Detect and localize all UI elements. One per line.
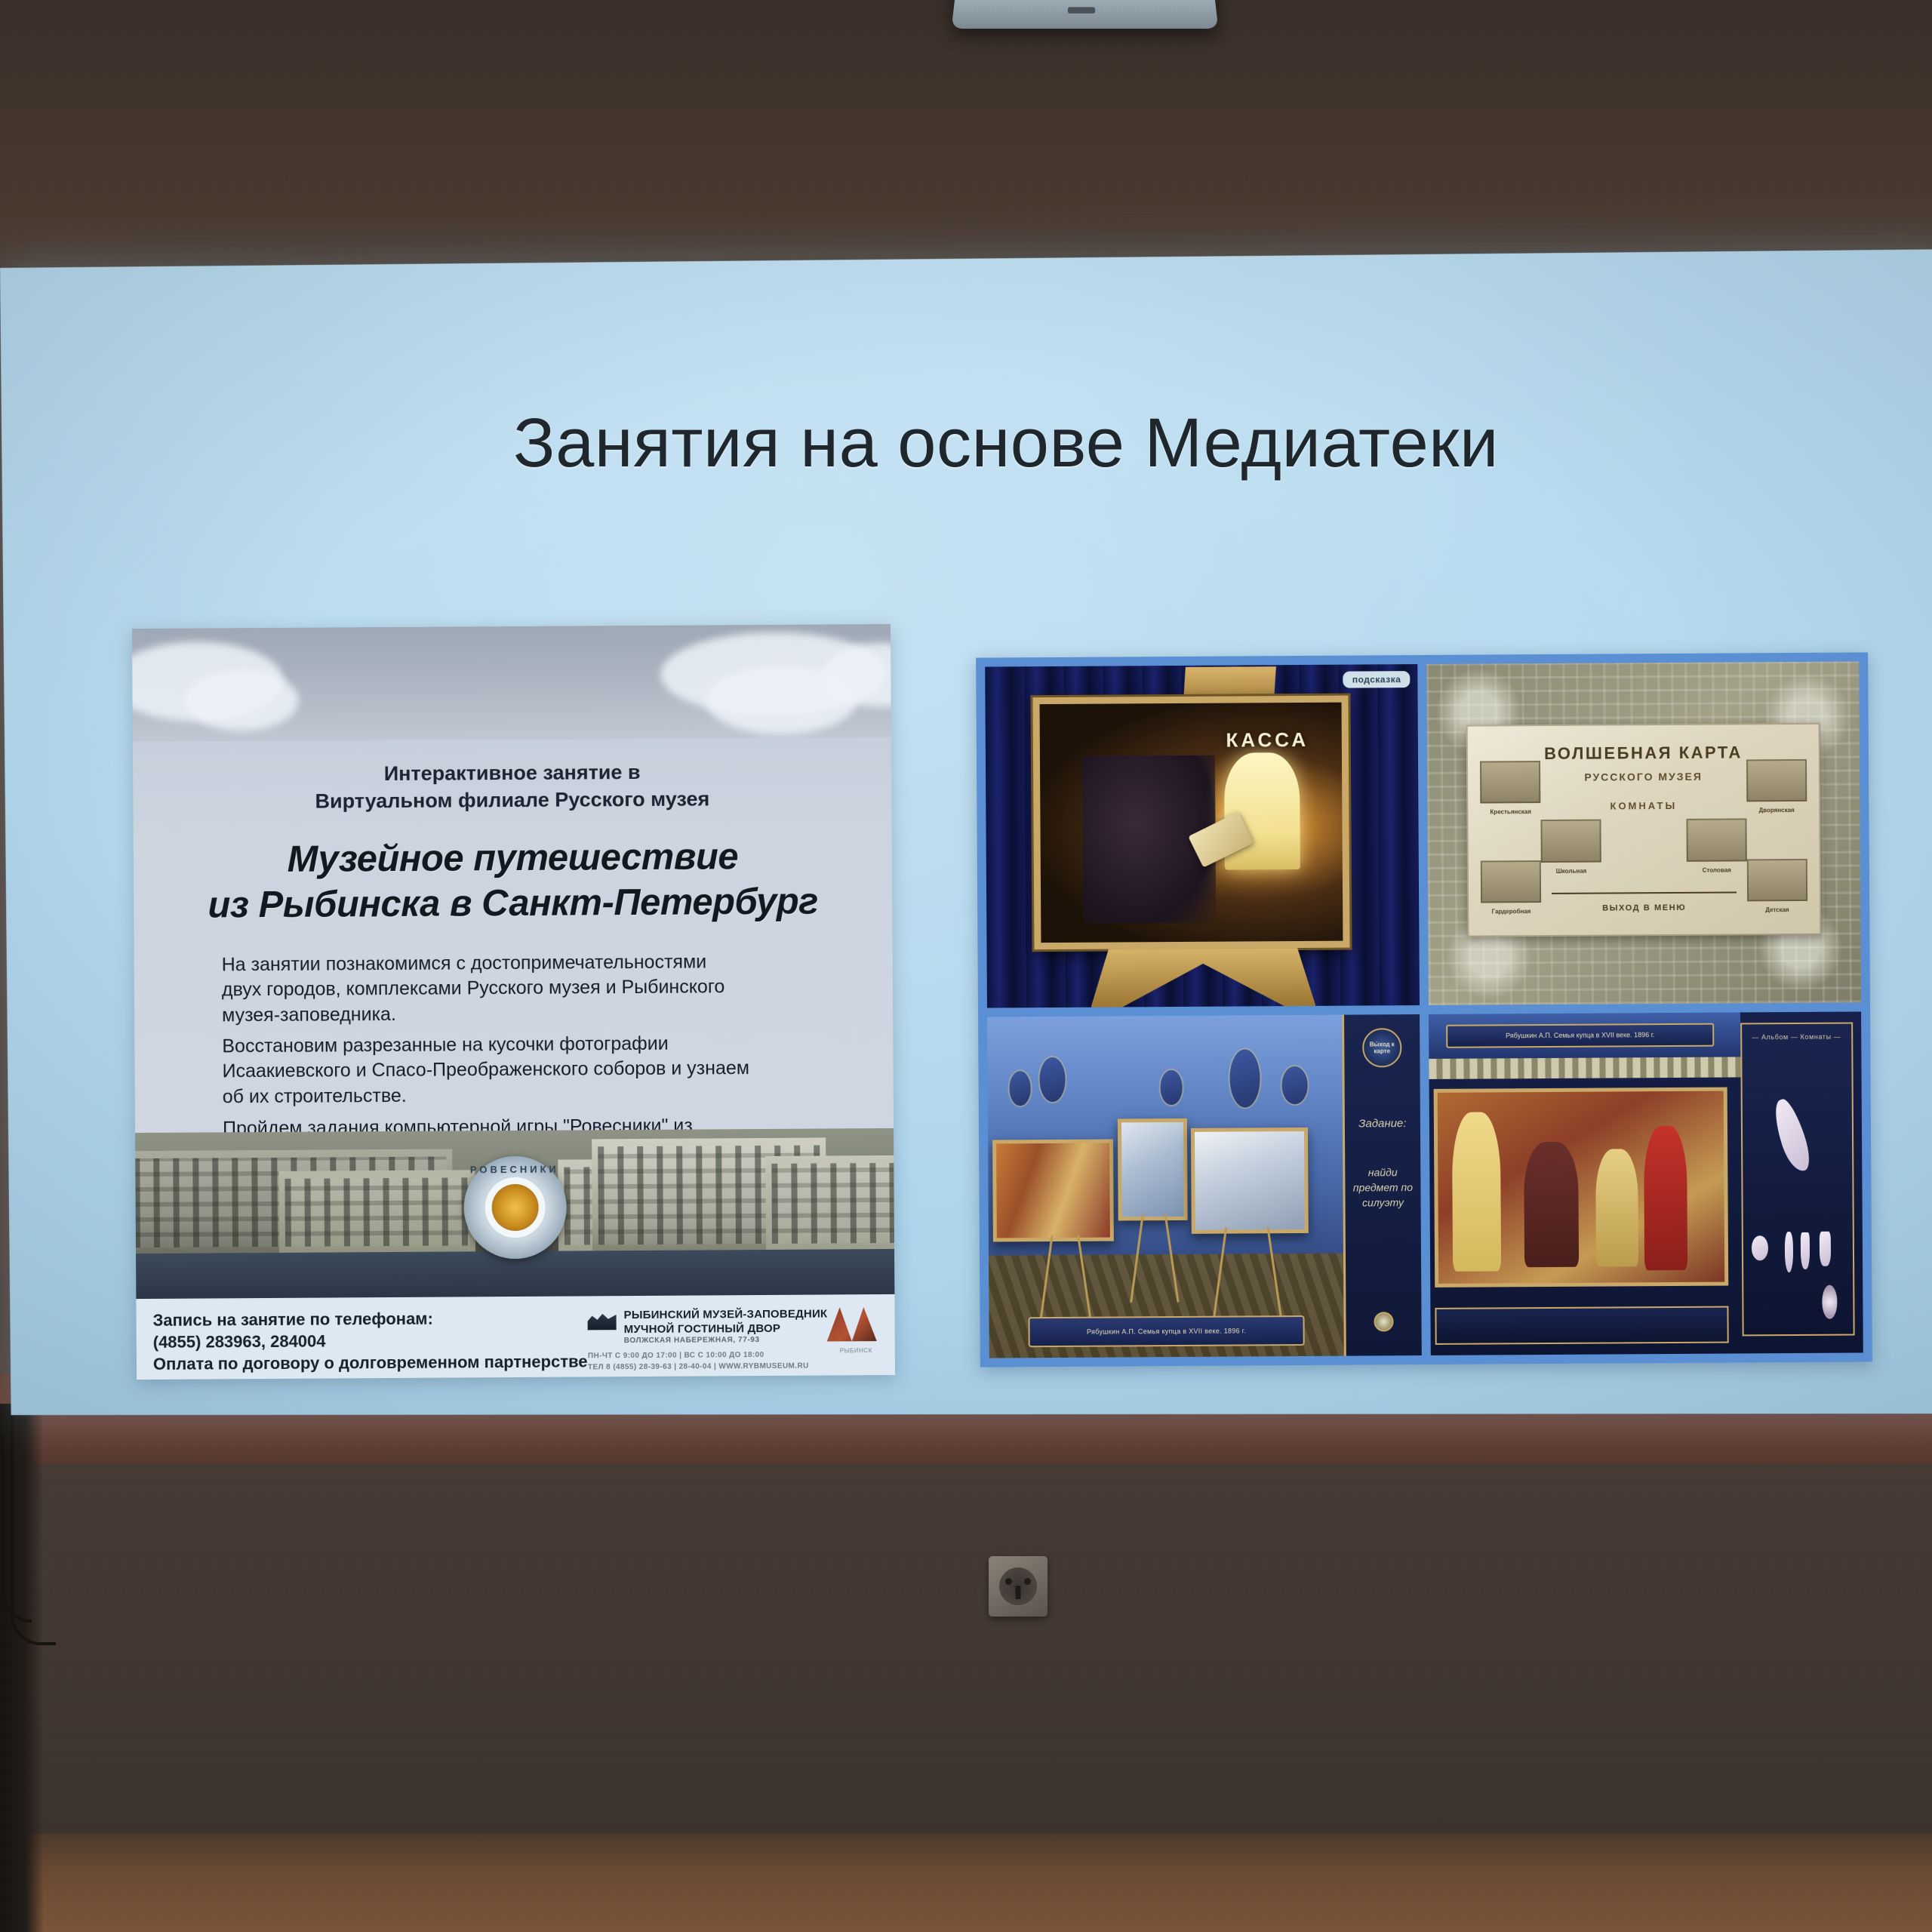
floor [0, 1834, 1932, 1932]
contact-line-2: (4855) 283963, 284004 [153, 1328, 588, 1353]
wall-portrait [1039, 1057, 1066, 1102]
cloud-shape [185, 670, 298, 731]
map-room-node[interactable]: Школьная [1541, 820, 1601, 863]
badge-core [491, 1184, 538, 1231]
fineprint-line-1: ПН-ЧТ С 9:00 ДО 17:00 | ВС С 10:00 ДО 18… [588, 1349, 809, 1362]
poster-title-line2: из Рыбинска в Санкт-Петербург [134, 879, 892, 929]
silhouette-shape[interactable] [1801, 1232, 1810, 1269]
contact-line-3: Оплата по договору о долговременном парт… [153, 1350, 588, 1375]
ceiling-projector-icon [952, 0, 1219, 29]
museum-logo-icon [587, 1310, 616, 1330]
map-room-node[interactable]: Дворянская [1746, 759, 1807, 802]
painting-pedestal [1435, 1306, 1729, 1345]
silhouette-shape[interactable] [1768, 1097, 1814, 1175]
painted-figure [1452, 1112, 1502, 1272]
sidebar-links[interactable]: — Альбом — Комнаты — [1742, 1032, 1851, 1041]
poster-fineprint: ПН-ЧТ С 9:00 ДО 17:00 | ВС С 10:00 ДО 18… [588, 1349, 809, 1374]
logo-line-2: МУЧНОЙ ГОСТИНЫЙ ДВОР [624, 1321, 828, 1337]
easel-painting[interactable] [1118, 1118, 1187, 1221]
wall-upper-shadow [0, 0, 1932, 294]
poster-sky [132, 624, 891, 749]
poster-paragraph: Восстановим разрезанные на кусочки фотог… [222, 1031, 751, 1109]
merchant-family-painting[interactable] [1433, 1088, 1728, 1287]
silhouette-shape[interactable] [1784, 1232, 1793, 1273]
outlet-face [999, 1567, 1037, 1605]
map-room-node[interactable]: Крестьянская [1480, 761, 1540, 804]
poster-cityscape-photo: РОВЕСНИКИ [135, 1128, 894, 1300]
poster-kicker-line2: Виртуальном филиале Русского музея [133, 784, 891, 817]
poster-body: Интерактивное занятие в Виртуальном фили… [133, 737, 894, 1134]
kassa-label: КАССА [1226, 728, 1309, 752]
picture-frame: КАССА [1032, 695, 1349, 949]
wall-portrait [1281, 1066, 1308, 1104]
outlet-hole [1024, 1578, 1031, 1585]
panel-kassa-screen: КАССА подсказка [985, 664, 1420, 1008]
museum-logo: РЫБИНСКИЙ МУЗЕЙ-ЗАПОВЕДНИК МУЧНОЙ ГОСТИН… [587, 1306, 827, 1345]
poster-title: Музейное путешествие из Рыбинска в Санкт… [134, 834, 893, 929]
emblem-caption: РЫБИНСК [840, 1347, 872, 1354]
poster-title-line1: Музейное путешествие [134, 834, 892, 884]
hanging-cable [2, 1434, 32, 1623]
map-room-node[interactable]: Детская [1747, 859, 1807, 902]
poster-contact-block: Запись на занятие по телефонам: (4855) 2… [152, 1306, 587, 1375]
silhouette-shape[interactable] [1820, 1232, 1831, 1266]
rovesniki-badge-icon: РОВЕСНИКИ [463, 1156, 567, 1260]
poster-kicker-line1: Интерактивное занятие в [133, 757, 891, 789]
poster-footer: Запись на занятие по телефонам: (4855) 2… [136, 1294, 895, 1380]
screenshot-grid: КАССА подсказка ВОЛШЕБНАЯ КАРТА РУССКОГО… [976, 652, 1872, 1367]
silhouette-shape[interactable] [1752, 1235, 1768, 1260]
back-to-map-button[interactable]: Вы́ход к карте [1362, 1028, 1401, 1067]
decorative-frieze [1429, 1057, 1740, 1079]
map-room-node[interactable]: Столовая [1686, 819, 1746, 862]
fineprint-line-2: ТЕЛ 8 (4855) 28-39-63 | 28-40-04 | WWW.R… [588, 1361, 809, 1374]
painted-figure [1595, 1149, 1639, 1267]
logo-address: ВОЛЖСКАЯ НАБЕРЕЖНАЯ, 77-93 [624, 1336, 828, 1346]
hint-badge[interactable]: подсказка [1343, 671, 1411, 688]
easel-painting[interactable] [992, 1139, 1114, 1242]
projector-lens-icon [1068, 7, 1095, 13]
outlet-slot [1016, 1586, 1021, 1599]
easel-painting[interactable] [1191, 1128, 1309, 1234]
panel-gallery-task-screen: Рябушкин А.П. Семья купца в XVII веке. 1… [987, 1014, 1422, 1358]
outlet-hole [1005, 1578, 1012, 1585]
wall-portrait [1009, 1071, 1031, 1105]
building-windows [771, 1163, 894, 1244]
kassa-scene: КАССА [1040, 702, 1343, 943]
poster-kicker: Интерактивное занятие в Виртуальном фили… [133, 757, 891, 817]
badge-label: РОВЕСНИКИ [463, 1164, 566, 1176]
painted-figure [1524, 1142, 1579, 1268]
map-room-label: Столовая [1687, 866, 1747, 873]
map-room-label: Дворянская [1746, 807, 1807, 814]
building-shape [278, 1170, 475, 1256]
wall-portrait [1161, 1070, 1183, 1104]
building-shape [765, 1155, 894, 1253]
help-button-icon[interactable] [1374, 1312, 1393, 1332]
panel-magic-map-screen: ВОЛШЕБНАЯ КАРТА РУССКОГО МУЗЕЯ КОМНАТЫ К… [1426, 661, 1861, 1004]
painting-caption: Рябушкин А.П. Семья купца в XVII веке. 1… [1028, 1315, 1305, 1348]
task-label: Задание: [1345, 1117, 1420, 1131]
panel-painting-silhouette-screen: Рябушкин А.П. Семья купца в XVII веке. 1… [1429, 1011, 1863, 1355]
silhouette-sidebar: — Альбом — Комнаты — [1740, 1022, 1855, 1337]
rybinsk-emblem-icon [826, 1305, 876, 1341]
logo-line-1: РЫБИНСКИЙ МУЗЕЙ-ЗАПОВЕДНИК [623, 1306, 827, 1322]
museum-logo-text: РЫБИНСКИЙ МУЗЕЙ-ЗАПОВЕДНИК МУЧНОЙ ГОСТИН… [623, 1306, 827, 1345]
building-windows [285, 1177, 469, 1246]
wall-portrait [1229, 1050, 1260, 1108]
painted-figure [1644, 1126, 1687, 1271]
wall-lower [0, 1464, 1932, 1887]
painting-caption: Рябушкин А.П. Семья купца в XVII веке. 1… [1446, 1023, 1714, 1048]
exit-divider [1552, 891, 1736, 894]
poster-museum-journey: Интерактивное занятие в Виртуальном фили… [132, 624, 895, 1380]
help-button-icon[interactable] [1822, 1284, 1838, 1318]
map-room-node[interactable]: Гардеробная [1481, 860, 1541, 903]
contact-line-1: Запись на занятие по телефонам: [152, 1306, 587, 1331]
map-room-label: Крестьянская [1481, 808, 1541, 815]
task-sidebar: Вы́ход к карте Задание: найди предмет по… [1342, 1014, 1422, 1356]
map-room-label: Школьная [1541, 867, 1601, 874]
power-outlet-icon [989, 1556, 1048, 1617]
task-text: найди предмет по силуэту [1345, 1164, 1420, 1211]
poster-paragraph: На занятии познакомимся с достопримечате… [222, 949, 751, 1028]
magic-map-board: ВОЛШЕБНАЯ КАРТА РУССКОГО МУЗЕЯ КОМНАТЫ К… [1466, 723, 1822, 937]
ticket-window-glow [1224, 752, 1300, 870]
slide-title: Занятия на основе Медиатеки [513, 404, 1645, 483]
